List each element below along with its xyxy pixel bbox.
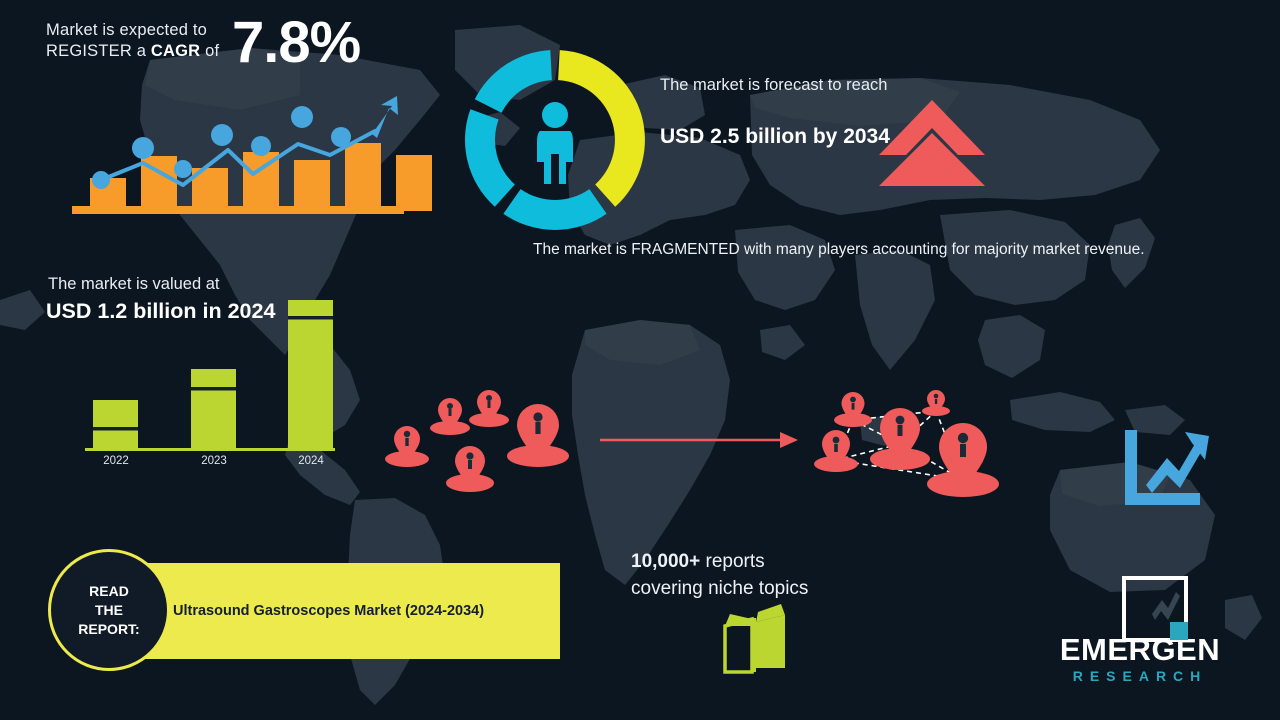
green-bar-2024-divider xyxy=(288,316,333,320)
green-bar-2023-divider xyxy=(191,387,236,391)
right-arrow-icon xyxy=(600,432,798,448)
donut-segment-cyan-3 xyxy=(475,50,552,113)
green-bar-2024 xyxy=(288,300,333,450)
infographic-canvas: Market is expected to REGISTER a CAGR of… xyxy=(0,0,1280,720)
pin-network-pins xyxy=(814,390,999,497)
open-book-icon xyxy=(725,604,785,672)
donut-segment-yellow xyxy=(558,50,645,207)
market-share-donut xyxy=(465,50,645,230)
donut-segment-cyan-1 xyxy=(503,189,606,230)
square-frame-logo-icon xyxy=(1124,578,1188,640)
donut-segment-cyan-2 xyxy=(465,109,515,207)
market-value-bar-chart xyxy=(85,300,335,451)
green-bar-2023 xyxy=(191,369,236,450)
green-bar-2022-divider xyxy=(93,427,138,431)
graphics-layer xyxy=(0,0,1280,720)
connected-location-pin-network-icon xyxy=(814,390,999,497)
green-chart-baseline xyxy=(85,448,335,451)
green-bar-2022 xyxy=(93,400,138,450)
double-up-arrow-icon xyxy=(879,100,985,186)
person-icon xyxy=(537,102,573,184)
location-pin-cluster-icon xyxy=(385,390,569,492)
trend-arrow-head xyxy=(372,96,398,138)
line-chart-icon xyxy=(1125,430,1209,505)
growth-bar-chart xyxy=(72,96,432,214)
growth-baseline xyxy=(72,206,404,214)
